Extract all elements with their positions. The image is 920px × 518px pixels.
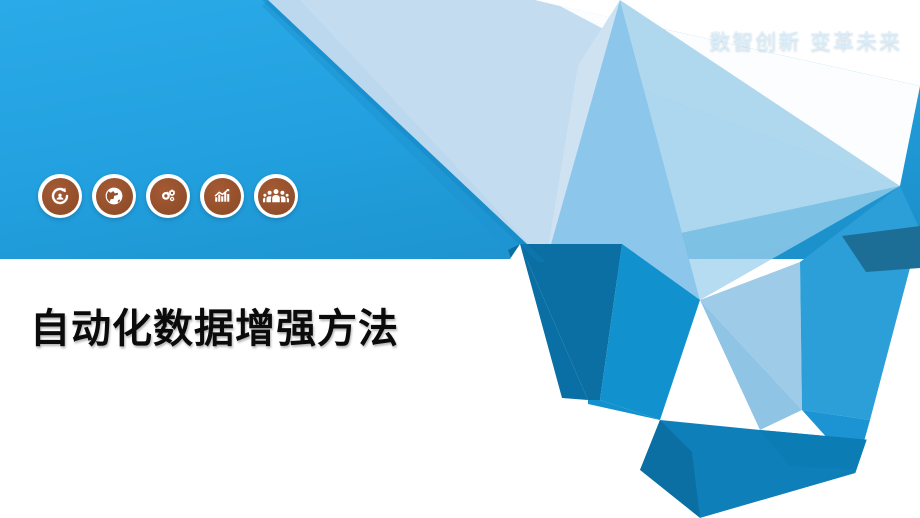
gears-icon	[150, 178, 187, 215]
people-group-icon	[258, 178, 295, 215]
icon-badge-refresh-cycle[interactable]	[38, 174, 82, 218]
icon-badge-globe[interactable]	[92, 174, 136, 218]
slide-canvas: 数智创新 变革未来	[0, 0, 920, 518]
icon-badge-people-group[interactable]	[254, 174, 298, 218]
refresh-cycle-icon	[42, 178, 79, 215]
icon-row	[38, 174, 298, 218]
page-title: 自动化数据增强方法	[30, 296, 399, 354]
bar-chart-icon	[204, 178, 241, 215]
globe-icon	[96, 178, 133, 215]
icon-badge-gears[interactable]	[146, 174, 190, 218]
low-poly-artwork	[0, 0, 920, 518]
icon-badge-bar-chart[interactable]	[200, 174, 244, 218]
header-slogan: 数智创新 变革未来	[709, 26, 902, 56]
